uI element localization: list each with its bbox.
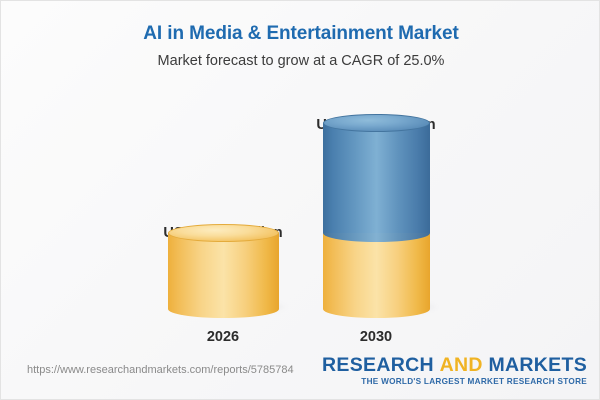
cylinder-segment-divider-2030 <box>323 224 430 242</box>
cylinder-top-cap-2026 <box>168 224 279 242</box>
brand-wordmark: RESEARCH AND MARKETS <box>322 355 587 375</box>
cylinder-body-2026 <box>168 233 279 309</box>
chart-plot-area: USD 35.77 Billion 2026 USD 87.44 Billion <box>1 1 600 349</box>
source-url-link[interactable]: https://www.researchandmarkets.com/repor… <box>27 364 294 376</box>
market-infographic: AI in Media & Entertainment Market Marke… <box>0 0 600 400</box>
footer: https://www.researchandmarkets.com/repor… <box>1 349 600 399</box>
category-label-2030: 2030 <box>266 329 486 345</box>
brand-logo[interactable]: RESEARCH AND MARKETS THE WORLD'S LARGEST… <box>322 355 587 386</box>
cylinder-top-cap-2030 <box>323 114 430 132</box>
cylinder-body-blue-2030 <box>323 123 430 233</box>
cylinder-segment-gold-2030 <box>323 233 430 309</box>
brand-word-research: RESEARCH <box>322 354 434 376</box>
cylinder-2030 <box>323 123 430 309</box>
cylinder-body-gold-2030 <box>323 233 430 309</box>
cylinder-segment-gold-2026 <box>168 233 279 309</box>
cylinder-2026 <box>168 233 279 309</box>
brand-tagline: THE WORLD'S LARGEST MARKET RESEARCH STOR… <box>322 377 587 386</box>
brand-word-markets: MARKETS <box>488 354 587 376</box>
cylinder-segment-blue-2030 <box>323 123 430 233</box>
brand-word-and: AND <box>440 354 483 376</box>
